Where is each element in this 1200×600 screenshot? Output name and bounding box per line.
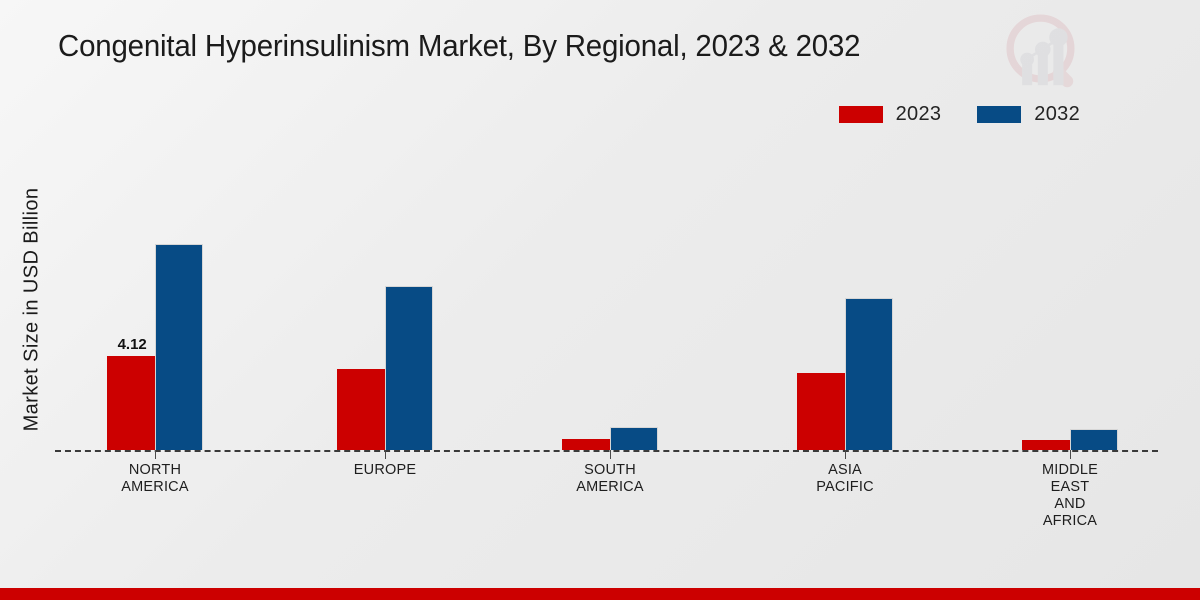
bar-pair (337, 150, 433, 450)
bars-layer: 4.12NORTHAMERICAEUROPESOUTHAMERICAASIAPA… (0, 150, 1200, 450)
bar-2023-north-america[interactable]: 4.12 (107, 356, 155, 450)
x-axis-label-europe: EUROPE (310, 462, 460, 479)
x-axis-tick (385, 450, 386, 459)
legend-swatch-2023 (839, 106, 883, 123)
watermark-logo-icon (1000, 8, 1092, 100)
bar-2032-middle-east-and-africa[interactable] (1070, 429, 1118, 450)
chart-title: Congenital Hyperinsulinism Market, By Re… (58, 28, 860, 64)
x-axis-tick (610, 450, 611, 459)
bar-pair (797, 150, 893, 450)
x-axis-label-north-america: NORTHAMERICA (80, 462, 230, 496)
legend-swatch-2032 (977, 106, 1021, 123)
bar-2023-asia-pacific[interactable] (797, 373, 845, 450)
footer-accent-strip (0, 588, 1200, 600)
x-axis-label-middle-east-and-africa: MIDDLEEASTANDAFRICA (995, 462, 1145, 530)
bar-pair: 4.12 (107, 150, 203, 450)
chart-container: Congenital Hyperinsulinism Market, By Re… (0, 0, 1200, 600)
bar-value-label: 4.12 (118, 336, 147, 353)
bar-group (562, 150, 658, 450)
x-axis-label-asia-pacific: ASIAPACIFIC (770, 462, 920, 496)
bar-2032-asia-pacific[interactable] (845, 298, 893, 450)
bar-2032-europe[interactable] (385, 286, 433, 450)
bar-2023-europe[interactable] (337, 369, 385, 450)
bar-group (797, 150, 893, 450)
bar-2023-middle-east-and-africa[interactable] (1022, 440, 1070, 450)
legend-label-2032: 2032 (1034, 103, 1080, 126)
bar-2032-south-america[interactable] (610, 427, 658, 450)
plot-area: 4.12NORTHAMERICAEUROPESOUTHAMERICAASIAPA… (0, 150, 1200, 450)
bar-group: 4.12 (107, 150, 203, 450)
x-axis-tick (845, 450, 846, 459)
x-axis-tick (1070, 450, 1071, 459)
x-axis-tick (155, 450, 156, 459)
legend-label-2023: 2023 (896, 103, 942, 126)
bar-2023-south-america[interactable] (562, 439, 610, 450)
x-axis-label-south-america: SOUTHAMERICA (535, 462, 685, 496)
legend-item-2023[interactable]: 2023 (839, 103, 942, 126)
legend-item-2032[interactable]: 2032 (977, 103, 1080, 126)
x-axis-baseline (55, 450, 1158, 452)
bar-2032-north-america[interactable] (155, 244, 203, 450)
bar-group (1022, 150, 1118, 450)
bar-pair (562, 150, 658, 450)
bar-group (337, 150, 433, 450)
chart-legend: 2023 2032 (839, 103, 1080, 126)
bar-pair (1022, 150, 1118, 450)
